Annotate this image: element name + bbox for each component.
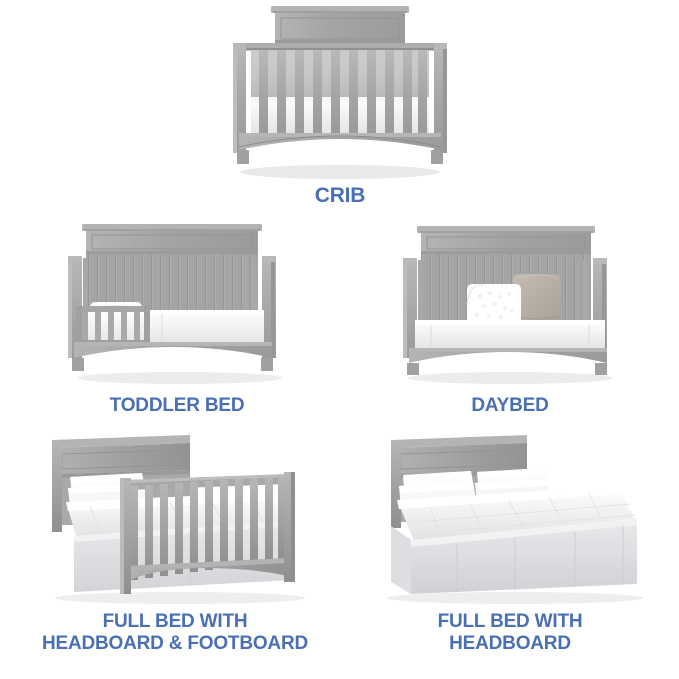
toddler-bed-image-stage [52,216,302,386]
full-bed-headboard-footboard-illustration [30,430,320,605]
option-full-bed-headboard-footboard: FULL BED WITH HEADBOARD & FOOTBOARD [30,430,320,655]
crib-illustration [215,2,465,180]
option-label-full-bed-headboard-footboard: FULL BED WITH HEADBOARD & FOOTBOARD [42,611,308,655]
option-full-bed-headboard: FULL BED WITH HEADBOARD [365,430,655,655]
option-label-full-bed-headboard: FULL BED WITH HEADBOARD [438,611,583,655]
full-bed-hf-image-stage [30,430,320,605]
daybed-illustration [385,216,635,386]
option-label-crib: CRIB [315,184,366,208]
daybed-image-stage [385,216,635,386]
crib-image-stage [215,2,465,180]
toddler-bed-illustration [52,216,302,386]
option-crib: CRIB [215,2,465,208]
full-bed-headboard-illustration [365,430,655,605]
option-label-toddler-bed: TODDLER BED [110,395,245,417]
option-toddler-bed: TODDLER BED [52,216,302,417]
option-daybed: DAYBED [385,216,635,417]
full-bed-h-image-stage [365,430,655,605]
conversion-options-infographic: CRIB [0,0,679,679]
option-label-daybed: DAYBED [471,395,548,417]
